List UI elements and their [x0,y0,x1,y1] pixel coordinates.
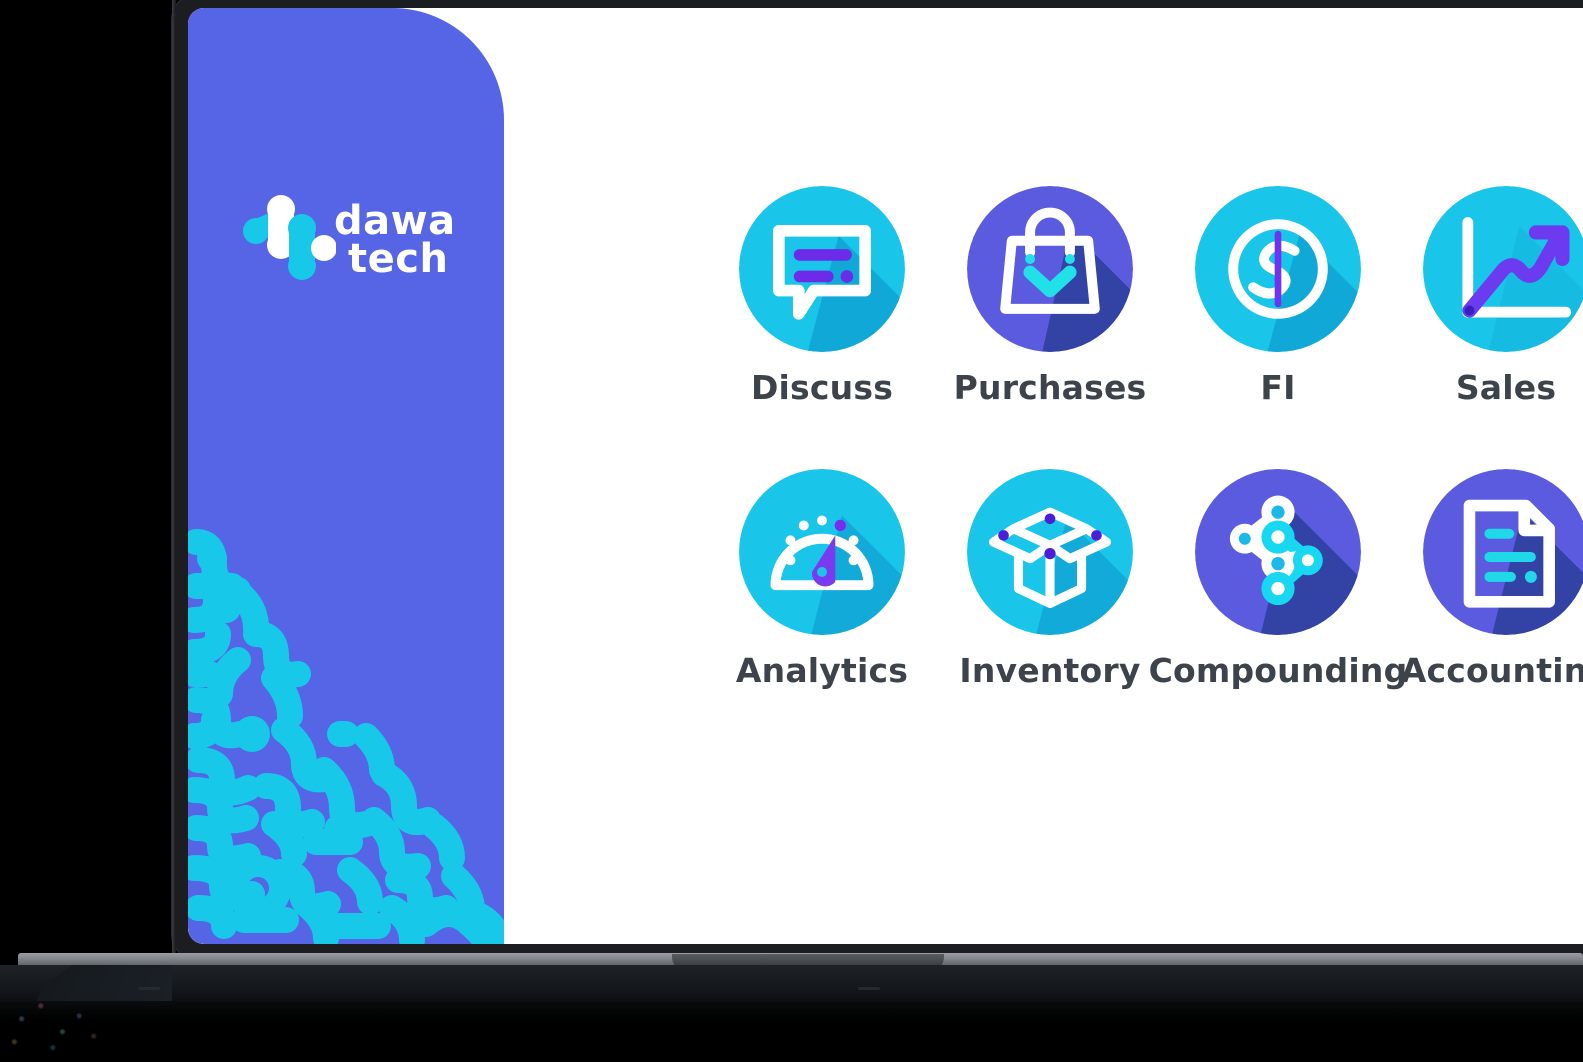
app-label: Inventory [959,651,1140,690]
app-label: Compounding [1149,651,1408,690]
shopping-bag-icon[interactable] [967,186,1133,352]
growth-chart-icon[interactable] [1423,186,1583,352]
brand-line-1: dawa [334,202,456,240]
laptop-screen: dawa tech [188,8,1583,944]
chat-bubble-icon[interactable] [739,186,905,352]
app-tile-fi[interactable]: FI [1164,186,1392,407]
app-label: Discuss [751,368,893,407]
dollar-coin-icon[interactable] [1195,186,1361,352]
molecule-icon[interactable] [1195,469,1361,635]
app-tile-accounting[interactable]: Accounting [1392,469,1583,690]
document-icon[interactable] [1423,469,1583,635]
laptop-foot [858,987,880,990]
laptop-mockup: dawa tech [0,0,1583,1062]
app-label: Accounting [1401,651,1583,690]
laptop-base [0,953,1583,1023]
brand-line-2: tech [334,240,456,278]
brand-wordmark: dawa tech [334,202,456,279]
brand-logo: dawa tech [240,190,470,290]
sidebar: dawa tech [188,8,504,944]
gauge-icon[interactable] [739,469,905,635]
app-tile-inventory[interactable]: Inventory [936,469,1164,690]
open-box-icon[interactable] [967,469,1133,635]
app-label: Purchases [954,368,1147,407]
laptop-foot [138,987,160,990]
app-label: Sales [1456,368,1556,407]
app-tile-sales[interactable]: Sales [1392,186,1583,407]
app-tile-discuss[interactable]: Discuss [708,186,936,407]
app-root: dawa tech [188,8,1583,944]
app-label: FI [1260,368,1295,407]
app-tile-analytics[interactable]: Analytics [708,469,936,690]
molecule-logo-icon [240,190,336,290]
sidebar-dot-pattern [188,524,504,944]
app-icon-grid: Discuss [708,186,1583,690]
app-label: Analytics [736,651,908,690]
app-tile-purchases[interactable]: Purchases [936,186,1164,407]
app-tile-compounding[interactable]: Compounding [1164,469,1392,690]
laptop-base-shadow [0,1001,1583,1019]
